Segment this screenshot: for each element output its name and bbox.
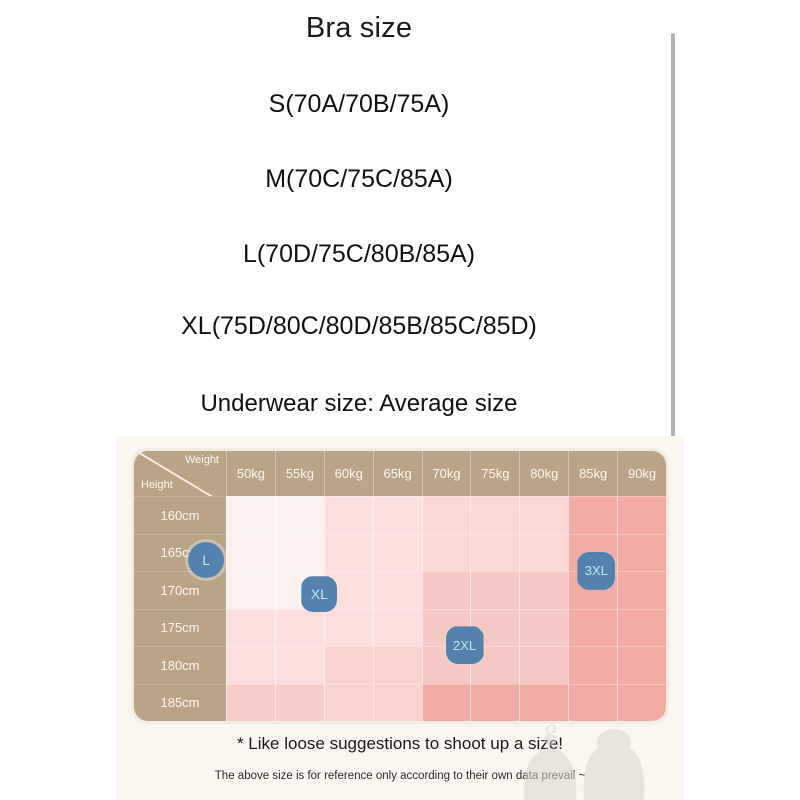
size-cell <box>470 684 519 722</box>
size-cell <box>324 609 373 647</box>
weight-header-cell: 50kg <box>226 451 275 496</box>
bra-size-line-l: L(70D/75C/80B/85A) <box>0 240 718 269</box>
size-cell <box>373 609 422 647</box>
size-cell <box>275 496 324 534</box>
bra-size-line-m: M(70C/75C/85A) <box>0 165 718 194</box>
weight-axis-label: Weight <box>185 454 219 466</box>
scrollbar-rail[interactable] <box>671 33 675 439</box>
size-cell <box>470 534 519 572</box>
size-cell <box>422 496 471 534</box>
size-marker-badge[interactable]: 3XL <box>577 552 615 590</box>
table-row: 175cm <box>134 609 666 647</box>
height-header-cell: 180cm <box>134 646 226 684</box>
axis-corner-cell: Weight Height <box>134 451 226 496</box>
weight-header-cell: 80kg <box>519 451 568 496</box>
size-cell <box>226 684 275 722</box>
table-row: 185cm <box>134 684 666 722</box>
weight-header-cell: 75kg <box>470 451 519 496</box>
size-cell <box>519 684 568 722</box>
size-cell <box>617 684 666 722</box>
size-cell <box>275 609 324 647</box>
size-cell <box>226 646 275 684</box>
size-cell <box>226 496 275 534</box>
size-marker-badge[interactable]: 2XL <box>446 626 484 664</box>
size-cell <box>617 646 666 684</box>
underwear-size-note: Underwear size: Average size <box>0 390 718 418</box>
size-cell <box>226 571 275 609</box>
size-cell <box>568 609 617 647</box>
size-cell <box>422 571 471 609</box>
size-cell <box>373 534 422 572</box>
size-cell <box>617 496 666 534</box>
weight-header-cell: 55kg <box>275 451 324 496</box>
size-cell <box>275 684 324 722</box>
bra-size-line-s: S(70A/70B/75A) <box>0 90 718 119</box>
size-table-header-row: Weight Height 50kg55kg60kg65kg70kg75kg80… <box>134 451 666 496</box>
size-cell <box>568 646 617 684</box>
bra-size-line-xl: XL(75D/80C/80D/85B/85C/85D) <box>0 312 718 341</box>
size-cell <box>519 646 568 684</box>
size-cell <box>324 534 373 572</box>
size-cell <box>568 684 617 722</box>
table-row: 160cm <box>134 496 666 534</box>
size-cell <box>519 609 568 647</box>
size-cell <box>519 496 568 534</box>
size-chart-panel: Weight Height 50kg55kg60kg65kg70kg75kg80… <box>116 436 684 800</box>
size-cell <box>275 646 324 684</box>
size-cell <box>324 646 373 684</box>
size-cell <box>373 646 422 684</box>
size-cell <box>422 534 471 572</box>
bra-size-section: Bra size S(70A/70B/75A) M(70C/75C/85A) L… <box>0 0 800 436</box>
size-cell <box>373 496 422 534</box>
clothing-silhouette-decoration <box>500 722 680 800</box>
size-cell <box>422 684 471 722</box>
weight-header-cell: 65kg <box>373 451 422 496</box>
height-header-cell: 175cm <box>134 609 226 647</box>
weight-header-cell: 85kg <box>568 451 617 496</box>
size-cell <box>373 571 422 609</box>
size-cell <box>617 609 666 647</box>
size-cell <box>617 534 666 572</box>
size-cell <box>324 684 373 722</box>
height-axis-label: Height <box>141 479 173 491</box>
size-cell <box>519 534 568 572</box>
size-cell <box>470 571 519 609</box>
height-weight-size-table: Weight Height 50kg55kg60kg65kg70kg75kg80… <box>131 448 669 724</box>
height-header-cell: 185cm <box>134 684 226 722</box>
size-cell <box>519 571 568 609</box>
size-cell <box>226 534 275 572</box>
size-cell <box>568 496 617 534</box>
size-cell <box>617 571 666 609</box>
size-cell <box>275 534 324 572</box>
size-cell <box>373 684 422 722</box>
page-title: Bra size <box>0 12 718 45</box>
height-header-cell: 160cm <box>134 496 226 534</box>
weight-header-cell: 70kg <box>422 451 471 496</box>
table-row: 180cm <box>134 646 666 684</box>
size-marker-badge[interactable]: XL <box>301 576 337 612</box>
weight-header-cell: 90kg <box>617 451 666 496</box>
size-cell <box>470 496 519 534</box>
size-marker-badge[interactable]: L <box>188 542 224 578</box>
size-cell <box>324 496 373 534</box>
size-cell <box>226 609 275 647</box>
weight-header-cell: 60kg <box>324 451 373 496</box>
